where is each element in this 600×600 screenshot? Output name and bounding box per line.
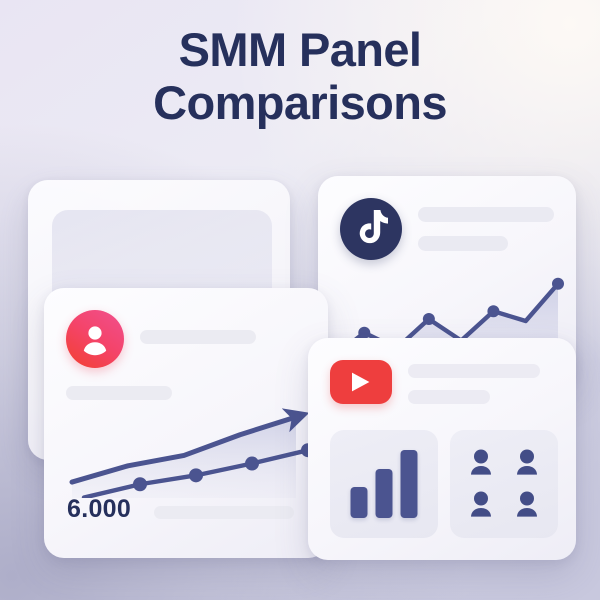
poster-canvas: SMM Panel Comparisons 6 <box>0 0 600 600</box>
mini-bar-2 <box>376 469 393 518</box>
youtube-bars-panel <box>330 430 438 538</box>
growth-data-point <box>133 477 147 491</box>
profile-growth-card[interactable]: 6.000 <box>44 288 328 558</box>
play-triangle-icon <box>351 371 371 393</box>
tiktok-data-point <box>487 305 499 317</box>
mini-bar-3 <box>401 450 418 518</box>
tiktok-icon <box>340 198 402 260</box>
growth-data-point <box>189 468 203 482</box>
tiktok-data-point <box>358 327 370 339</box>
avatar <box>66 310 124 368</box>
main-placeholder-line-1 <box>140 330 256 344</box>
tiktok-data-point <box>423 313 435 325</box>
youtube-card[interactable] <box>308 338 576 560</box>
tiktok-data-point <box>552 278 564 290</box>
tiktok-placeholder-line-2 <box>418 236 508 251</box>
tiktok-placeholder-line-1 <box>418 207 554 222</box>
main-placeholder-line-2 <box>66 386 172 400</box>
youtube-icon <box>330 360 392 404</box>
growth-data-point <box>245 457 259 471</box>
person-icon <box>465 489 497 521</box>
title-line-2: Comparisons <box>0 77 600 130</box>
metric-value: 6.000 <box>67 495 131 524</box>
growth-line-chart <box>62 406 312 498</box>
youtube-mini-bar-chart <box>351 450 418 518</box>
growth-line-chart-svg <box>62 406 312 498</box>
main-placeholder-line-3 <box>154 506 294 519</box>
person-icon <box>511 489 543 521</box>
person-icon <box>78 322 112 356</box>
audience-people-grid <box>450 430 558 538</box>
person-icon <box>465 447 497 479</box>
youtube-placeholder-line-1 <box>408 364 540 378</box>
youtube-people-panel <box>450 430 558 538</box>
tiktok-note-glyph <box>354 210 388 248</box>
youtube-placeholder-line-2 <box>408 390 490 404</box>
person-icon <box>511 447 543 479</box>
title-line-1: SMM Panel <box>0 24 600 77</box>
page-title: SMM Panel Comparisons <box>0 24 600 129</box>
mini-bar-1 <box>351 487 368 518</box>
